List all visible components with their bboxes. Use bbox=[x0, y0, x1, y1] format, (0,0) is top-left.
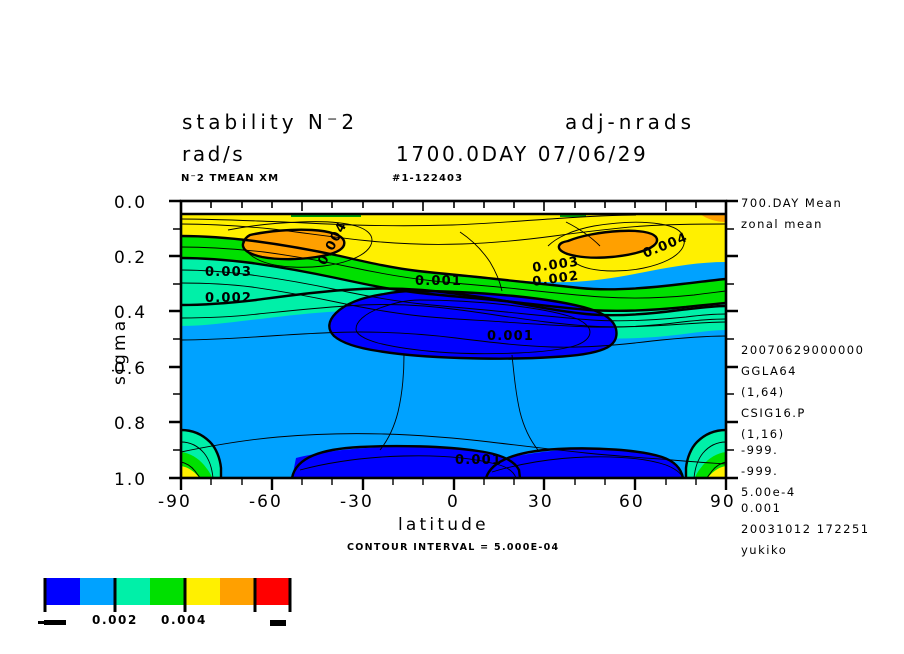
contour-label-0003-left: 0.003 bbox=[205, 265, 252, 280]
xtick-6: 90 bbox=[710, 492, 736, 512]
colorbar-swatch-1 bbox=[80, 578, 115, 605]
contour-label-0001-surface: 0.001 bbox=[455, 453, 502, 468]
y-axis-label: sigma bbox=[110, 318, 130, 385]
xtick-4: 30 bbox=[528, 492, 554, 512]
contour-interval-caption: CONTOUR INTERVAL = 5.000E-04 bbox=[347, 542, 559, 553]
ytick-5: 1.0 bbox=[114, 470, 147, 490]
xtick-2: -30 bbox=[340, 492, 374, 512]
contour-label-0001-lobe: 0.001 bbox=[487, 329, 534, 344]
xtick-1: -60 bbox=[249, 492, 283, 512]
colorbar-swatch-4 bbox=[185, 578, 220, 605]
colorbar-swatches bbox=[45, 578, 290, 605]
x-axis-label: latitude bbox=[398, 515, 489, 535]
contour-label-0002-left: 0.002 bbox=[205, 291, 252, 306]
xtick-3: 0 bbox=[447, 492, 460, 512]
colorbar-label-1: 0.004 bbox=[161, 613, 207, 627]
colorbar-swatch-5 bbox=[220, 578, 255, 605]
colorbar-swatch-2 bbox=[115, 578, 150, 605]
colorbar-swatch-3 bbox=[150, 578, 185, 605]
colorbar-label-0: 0.002 bbox=[92, 613, 138, 627]
colorbar-swatch-0 bbox=[45, 578, 80, 605]
colorbar-swatch-6 bbox=[255, 578, 290, 605]
ytick-0: 0.0 bbox=[114, 193, 147, 213]
xtick-5: 60 bbox=[619, 492, 645, 512]
xtick-0: -90 bbox=[158, 492, 192, 512]
contour-label-0001-upper: 0.001 bbox=[415, 274, 462, 289]
ytick-4: 0.8 bbox=[114, 414, 147, 434]
colorbar bbox=[0, 560, 904, 654]
ytick-1: 0.2 bbox=[114, 248, 147, 268]
